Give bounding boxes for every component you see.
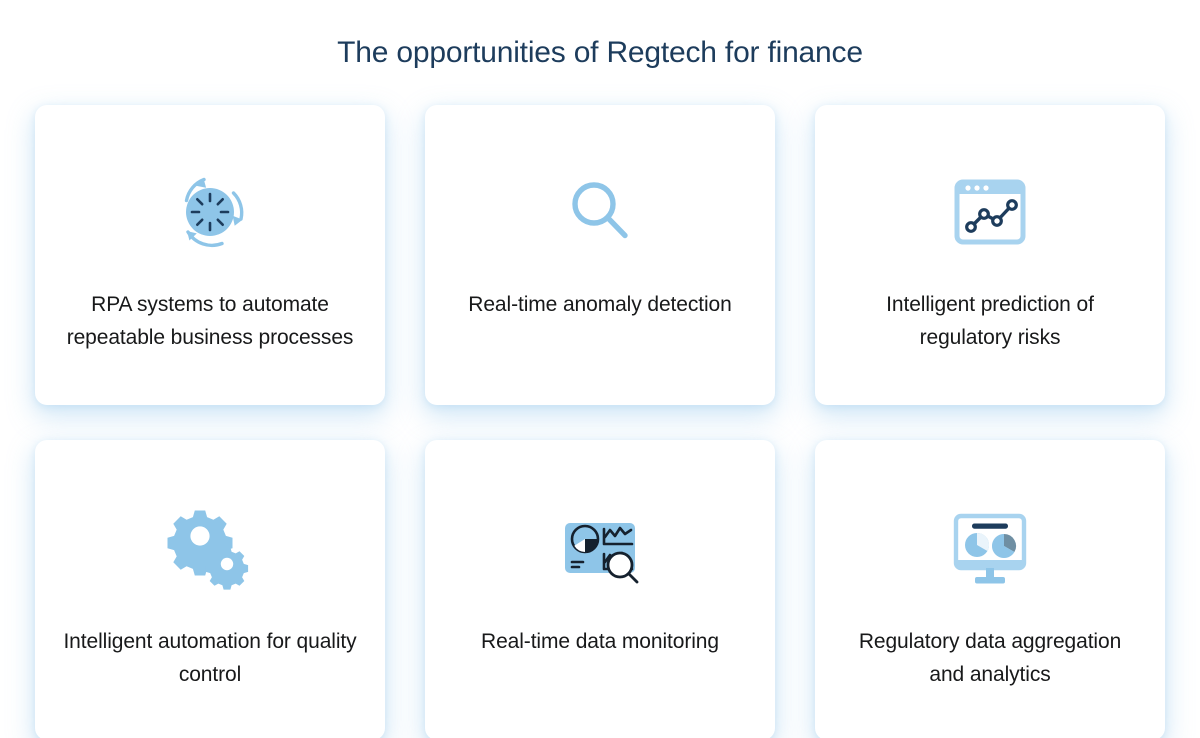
card-regulatory-risk-prediction[interactable]: Intelligent prediction of regulatory ris…: [815, 105, 1165, 405]
card-quality-control-automation[interactable]: Intelligent automation for quality contr…: [35, 440, 385, 738]
card-rpa-systems[interactable]: RPA systems to automate repeatable busin…: [35, 105, 385, 405]
refresh-cycle-clock-icon: [162, 157, 258, 267]
card-data-monitoring[interactable]: Real-time data monitoring: [425, 440, 775, 738]
card-label: Real-time anomaly detection: [450, 289, 750, 322]
card-label: Intelligent prediction of regulatory ris…: [840, 289, 1140, 354]
card-anomaly-detection[interactable]: Real-time anomaly detection: [425, 105, 775, 405]
infographic-page: The opportunities of Regtech for finance: [0, 0, 1200, 738]
cards-grid: RPA systems to automate repeatable busin…: [35, 105, 1165, 738]
page-title: The opportunities of Regtech for finance: [0, 33, 1200, 73]
card-label: Intelligent automation for quality contr…: [60, 626, 360, 691]
monitor-pie-charts-icon: [942, 492, 1038, 602]
card-label: RPA systems to automate repeatable busin…: [60, 289, 360, 354]
browser-line-chart-icon: [942, 157, 1038, 267]
gears-icon: [162, 492, 258, 602]
card-data-aggregation-analytics[interactable]: Regulatory data aggregation and analytic…: [815, 440, 1165, 738]
magnifying-glass-icon: [552, 157, 648, 267]
card-label: Real-time data monitoring: [450, 626, 750, 659]
card-label: Regulatory data aggregation and analytic…: [840, 626, 1140, 691]
dashboard-magnifier-icon: [552, 492, 648, 602]
